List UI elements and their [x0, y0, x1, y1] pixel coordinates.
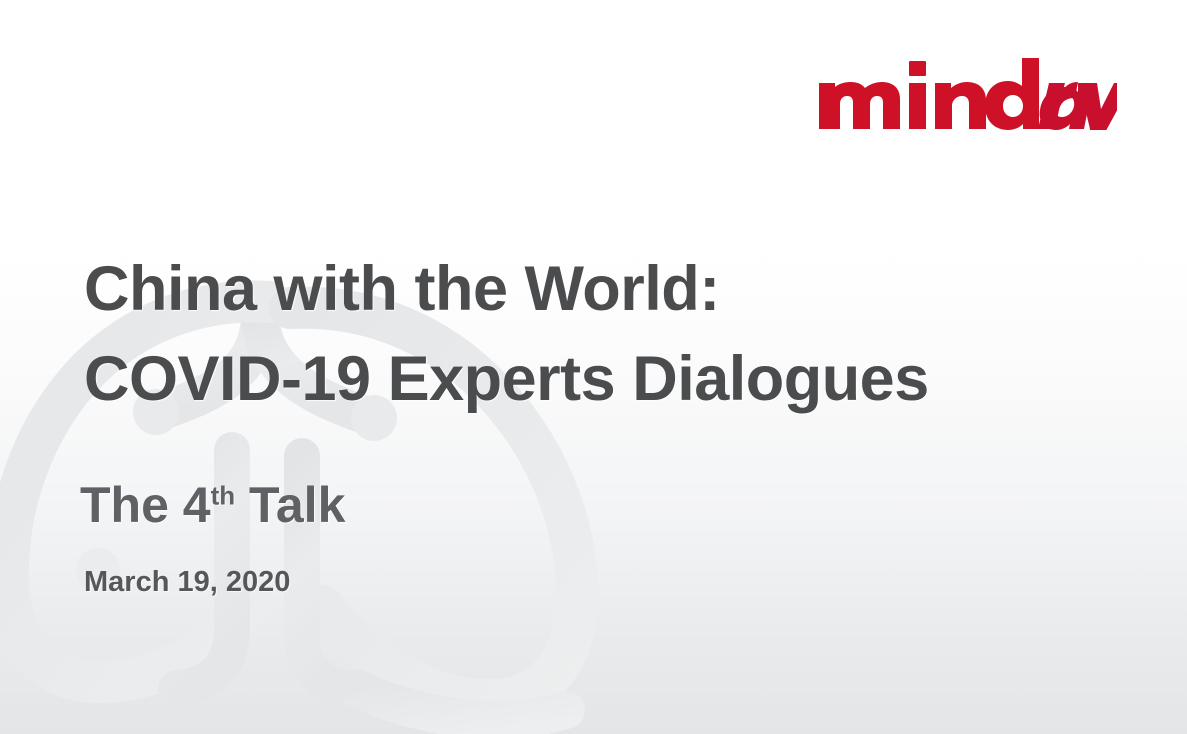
talk-number-subtitle: The 4th Talk: [80, 476, 345, 534]
talk-number-suffix: Talk: [235, 477, 345, 533]
presentation-title-slide: China with the World: COVID-19 Experts D…: [0, 0, 1187, 734]
talk-number-prefix: The 4: [80, 477, 211, 533]
talk-number-ordinal-suffix: th: [211, 480, 236, 510]
mindray-logo: [817, 55, 1117, 130]
event-date: March 19, 2020: [84, 566, 290, 599]
page-title-line-2: COVID-19 Experts Dialogues: [84, 343, 929, 415]
page-title-line-1: China with the World:: [84, 253, 720, 325]
